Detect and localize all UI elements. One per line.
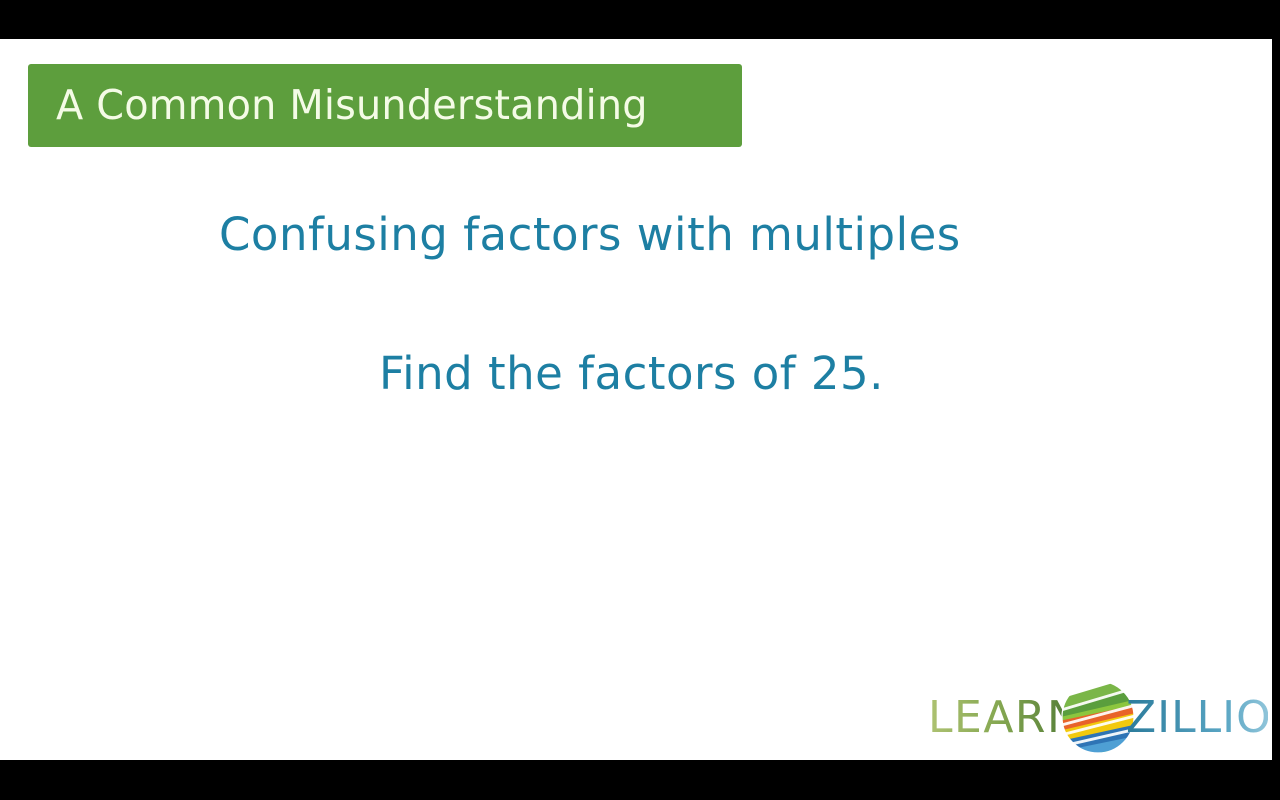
slide-title-banner: A Common Misunderstanding (28, 64, 742, 147)
body-line-confusing-factors: Confusing factors with multiples (219, 212, 961, 257)
learnzillion-logo: LEARN ZILLION (928, 678, 1268, 756)
logo-word-learn: LEARN (928, 692, 1081, 743)
letterbox-bar-bottom (0, 760, 1280, 800)
body-line-find-factors: Find the factors of 25. (379, 351, 884, 396)
slide-title-text: A Common Misunderstanding (56, 85, 648, 126)
logo-word-zillion: ZILLION (1126, 692, 1268, 743)
learnzillion-logo-svg: LEARN ZILLION (928, 678, 1268, 756)
letterbox-bar-right (1272, 0, 1280, 800)
letterbox-bar-top (0, 0, 1280, 39)
presentation-slide: A Common Misunderstanding Confusing fact… (0, 0, 1280, 800)
